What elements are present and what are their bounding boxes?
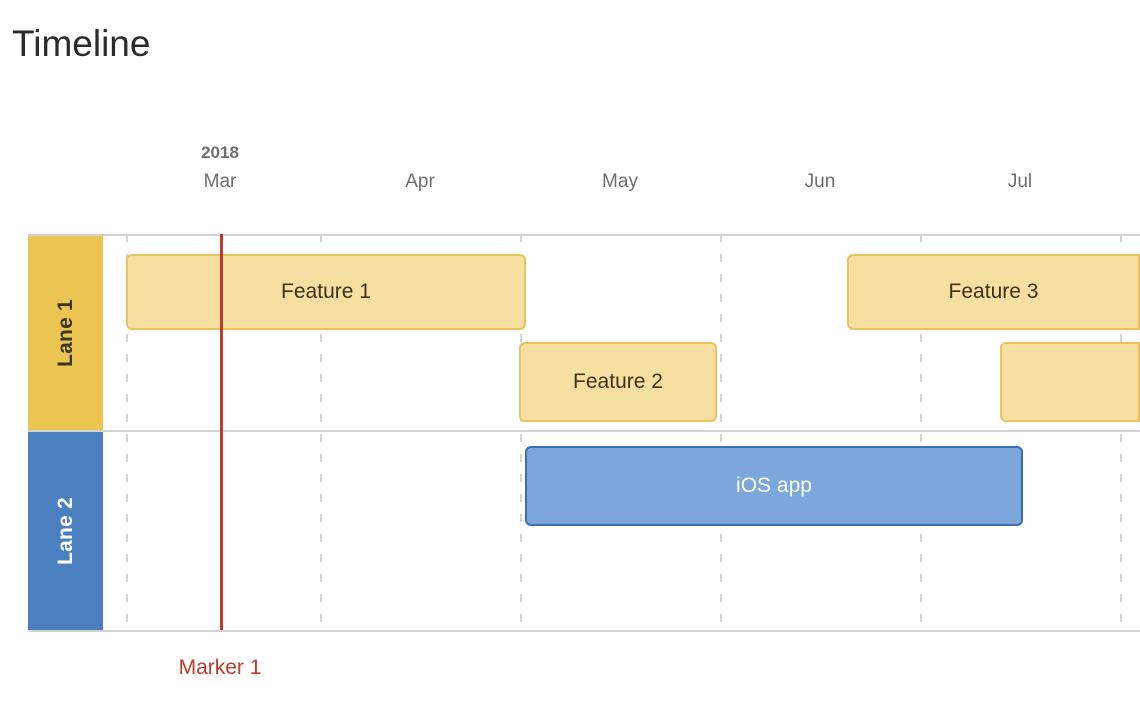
task-bar-unlabeled[interactable] xyxy=(1000,342,1140,422)
lane-header-lane-1[interactable]: Lane 1 xyxy=(28,236,103,430)
task-bar-label: Feature 1 xyxy=(281,280,371,304)
task-bar-feature-1[interactable]: Feature 1 xyxy=(126,254,526,330)
lane-header-label: Lane 1 xyxy=(53,299,77,367)
plot-area: Feature 1Feature 2Feature 3iOS app xyxy=(103,234,1140,630)
axis-month-label-jul: Jul xyxy=(1008,170,1032,194)
axis-year-label: 2018 xyxy=(201,142,239,164)
chart-bottom-rule xyxy=(28,630,1140,632)
marker-label-1: Marker 1 xyxy=(179,655,262,681)
axis-month-label-apr: Apr xyxy=(405,170,435,194)
axis-month-label-mar: Mar xyxy=(204,170,237,194)
lane-header-label: Lane 2 xyxy=(53,497,77,565)
gridline-3 xyxy=(720,234,722,630)
time-axis: 2018 MarAprMayJunJul xyxy=(0,142,1140,204)
page-title: Timeline xyxy=(12,21,150,67)
task-bar-ios-app[interactable]: iOS app xyxy=(525,446,1023,526)
chart-area: Lane 1 Lane 2 Feature 1Feature 2Feature … xyxy=(0,234,1140,632)
task-bar-label: Feature 3 xyxy=(949,280,1039,304)
lane-header-lane-2[interactable]: Lane 2 xyxy=(28,432,103,630)
task-bar-label: Feature 2 xyxy=(573,370,663,394)
timeline-chart: Timeline 2018 MarAprMayJunJul Lane 1 Lan… xyxy=(0,0,1140,720)
marker-line-1[interactable] xyxy=(220,234,223,630)
axis-month-label-may: May xyxy=(602,170,638,194)
axis-month-label-jun: Jun xyxy=(805,170,836,194)
task-bar-label: iOS app xyxy=(736,474,812,498)
task-bar-feature-3[interactable]: Feature 3 xyxy=(847,254,1140,330)
task-bar-feature-2[interactable]: Feature 2 xyxy=(519,342,717,422)
